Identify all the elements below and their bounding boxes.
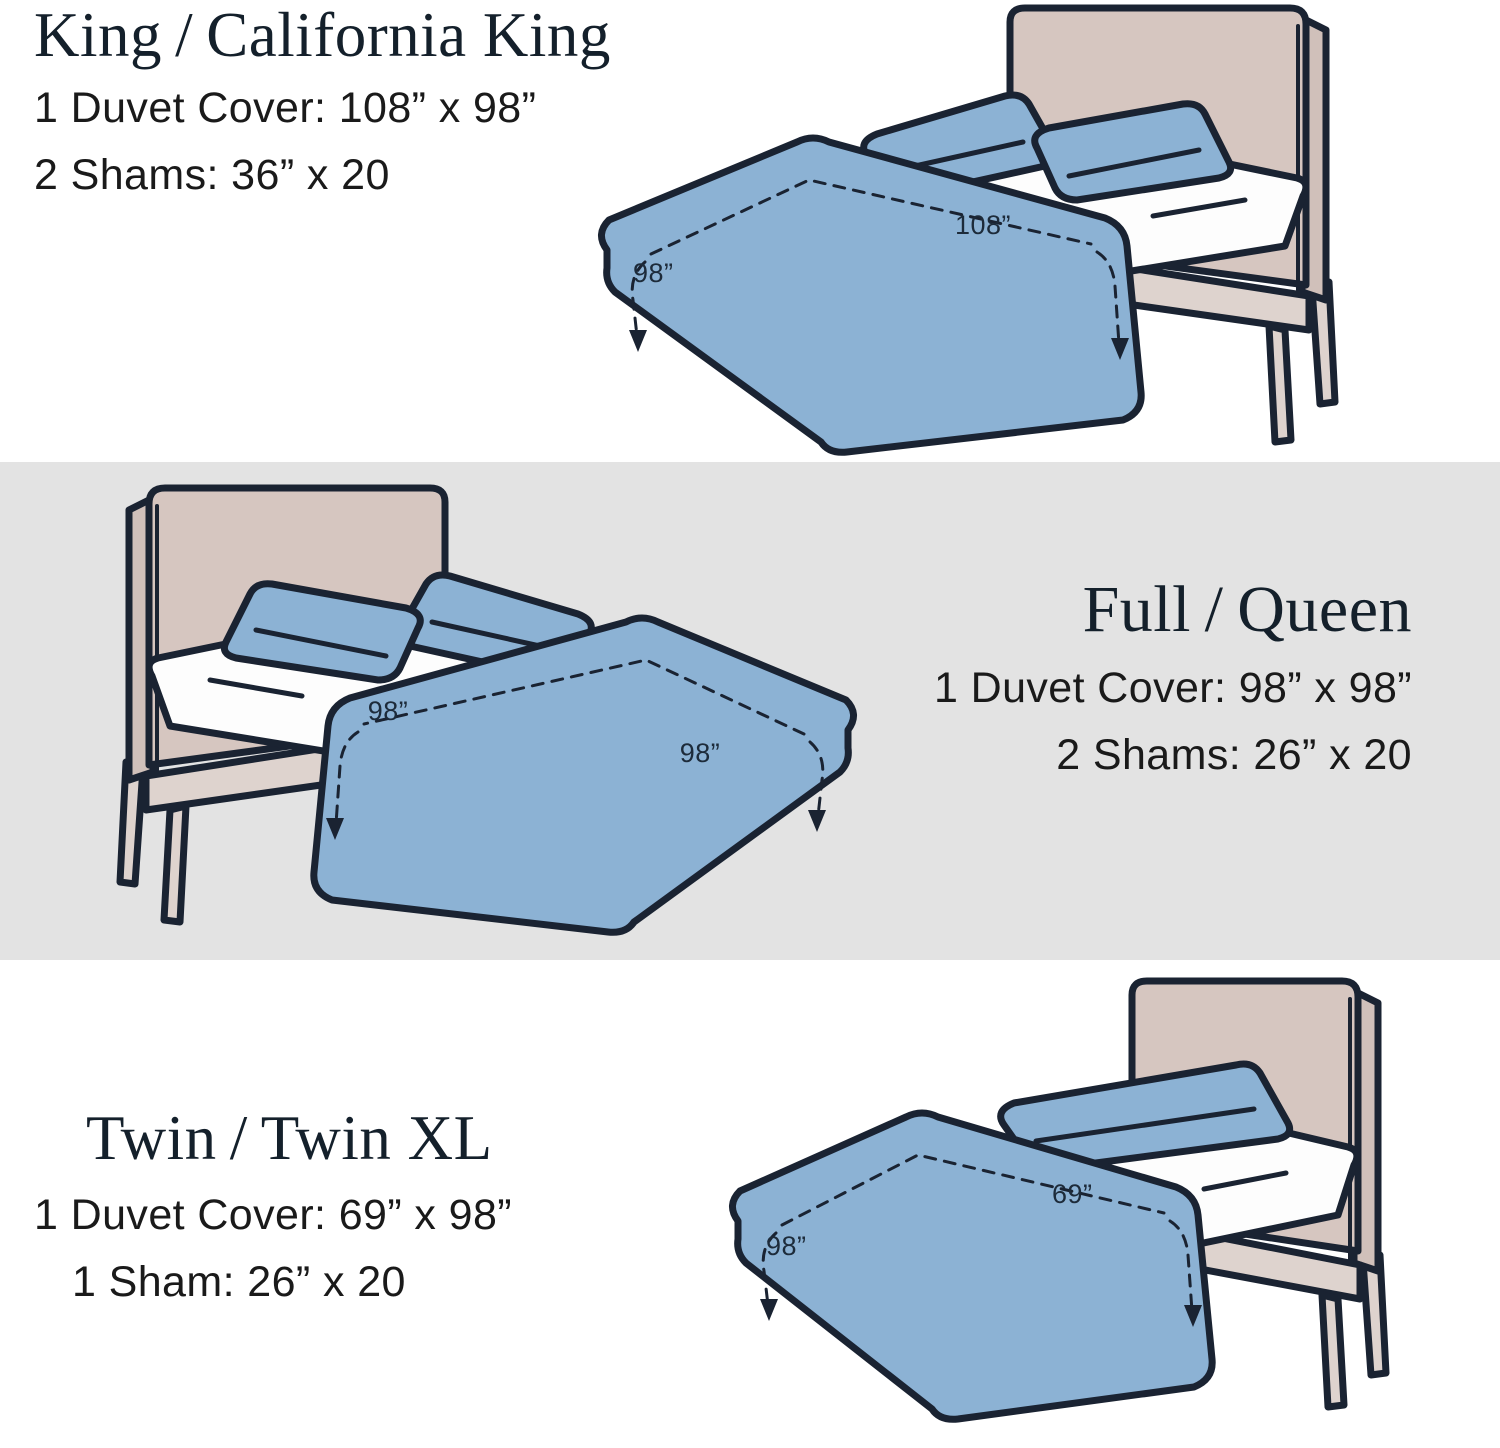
full-queen-text-block: Full / Queen 1 Duvet Cover: 98” x 98” 2 … [934,575,1412,786]
full-queen-size-title: Full / Queen [934,575,1412,644]
king-duvet-spec: 1 Duvet Cover: 108” x 98” [34,78,611,139]
full-queen-duvet-spec: 1 Duvet Cover: 98” x 98” [934,658,1412,719]
king-sham-spec: 2 Shams: 36” x 20 [34,145,611,206]
twin-dim-width-label: 69” [1052,1179,1093,1209]
king-text-block: King / California King 1 Duvet Cover: 10… [34,2,611,206]
full-queen-sham-spec: 2 Shams: 26” x 20 [934,725,1412,786]
king-dim-width-label: 108” [955,210,1011,240]
twin-dim-length-label: 98” [766,1231,807,1261]
twin-duvet-spec: 1 Duvet Cover: 69” x 98” [34,1185,512,1246]
twin-size-title: Twin / Twin XL [86,1105,512,1171]
queen-dim-left-label: 98” [368,696,409,726]
twin-bed-illustration: 69” 98” [700,965,1480,1445]
twin-text-block: Twin / Twin XL 1 Duvet Cover: 69” x 98” … [34,1105,512,1313]
king-dim-length-label: 98” [633,258,674,288]
queen-dim-right-label: 98” [680,738,721,768]
king-bed-illustration: 108” 98” [585,0,1385,470]
king-size-title: King / California King [34,2,611,68]
twin-sham-spec: 1 Sham: 26” x 20 [72,1252,512,1313]
queen-bed-illustration: 98” 98” [70,470,870,960]
bedding-size-chart: King / California King 1 Duvet Cover: 10… [0,0,1500,1448]
